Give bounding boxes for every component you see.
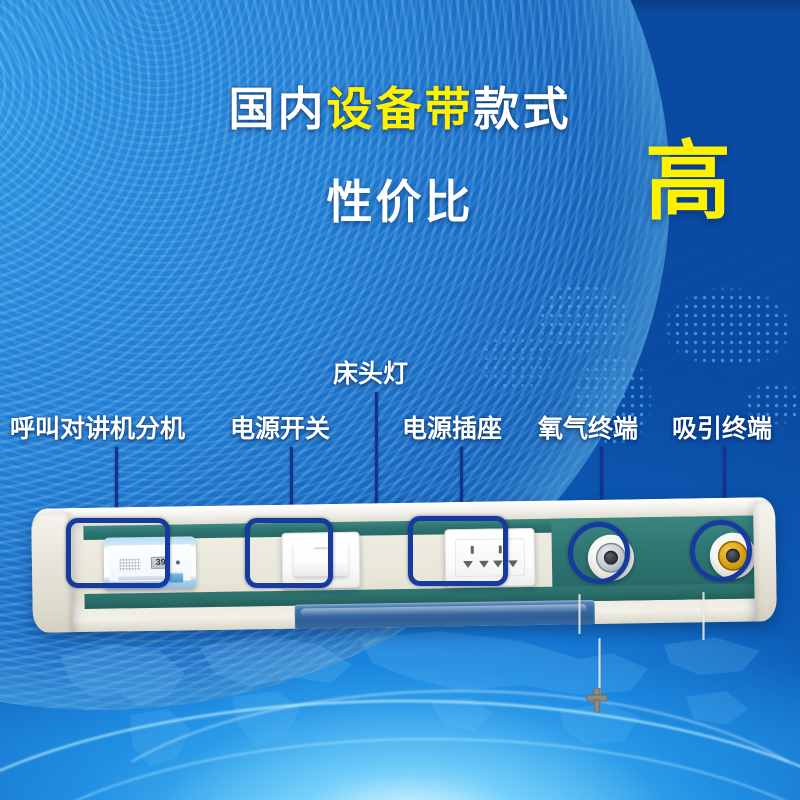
annotation-box-socket [408,516,508,586]
intercom-call-button[interactable] [169,572,183,582]
suction-terminal-cord-upper [702,592,705,640]
cord-end-fitting [578,688,618,718]
intercom-status-led [176,560,180,564]
oxygen-terminal-cord [578,594,581,634]
annotation-circle-oxygen [568,522,630,584]
callout-oxygen-terminal: 氧气终端 [538,417,638,442]
headline-emphasis-character: 高 [645,139,731,225]
socket-pin-4 [508,560,518,567]
callout-bed-lamp: 床头灯 [333,362,408,387]
product-banner: 国内设备带款式 性价比 高 呼叫对讲机分机 电源开关 床头灯 电源插座 氧气终端… [0,0,800,800]
callout-suction-terminal: 吸引终端 [672,417,772,442]
callout-nurse-call-intercom: 呼叫对讲机分机 [10,417,185,442]
panel-right-end-cap [753,501,777,633]
callout-power-switch: 电源开关 [230,417,330,442]
annotation-box-switch [245,518,333,588]
callout-power-socket: 电源插座 [402,417,502,442]
annotation-circle-suction [690,520,752,582]
annotation-box-intercom [66,518,170,588]
halftone-dots-secondary [455,300,575,420]
